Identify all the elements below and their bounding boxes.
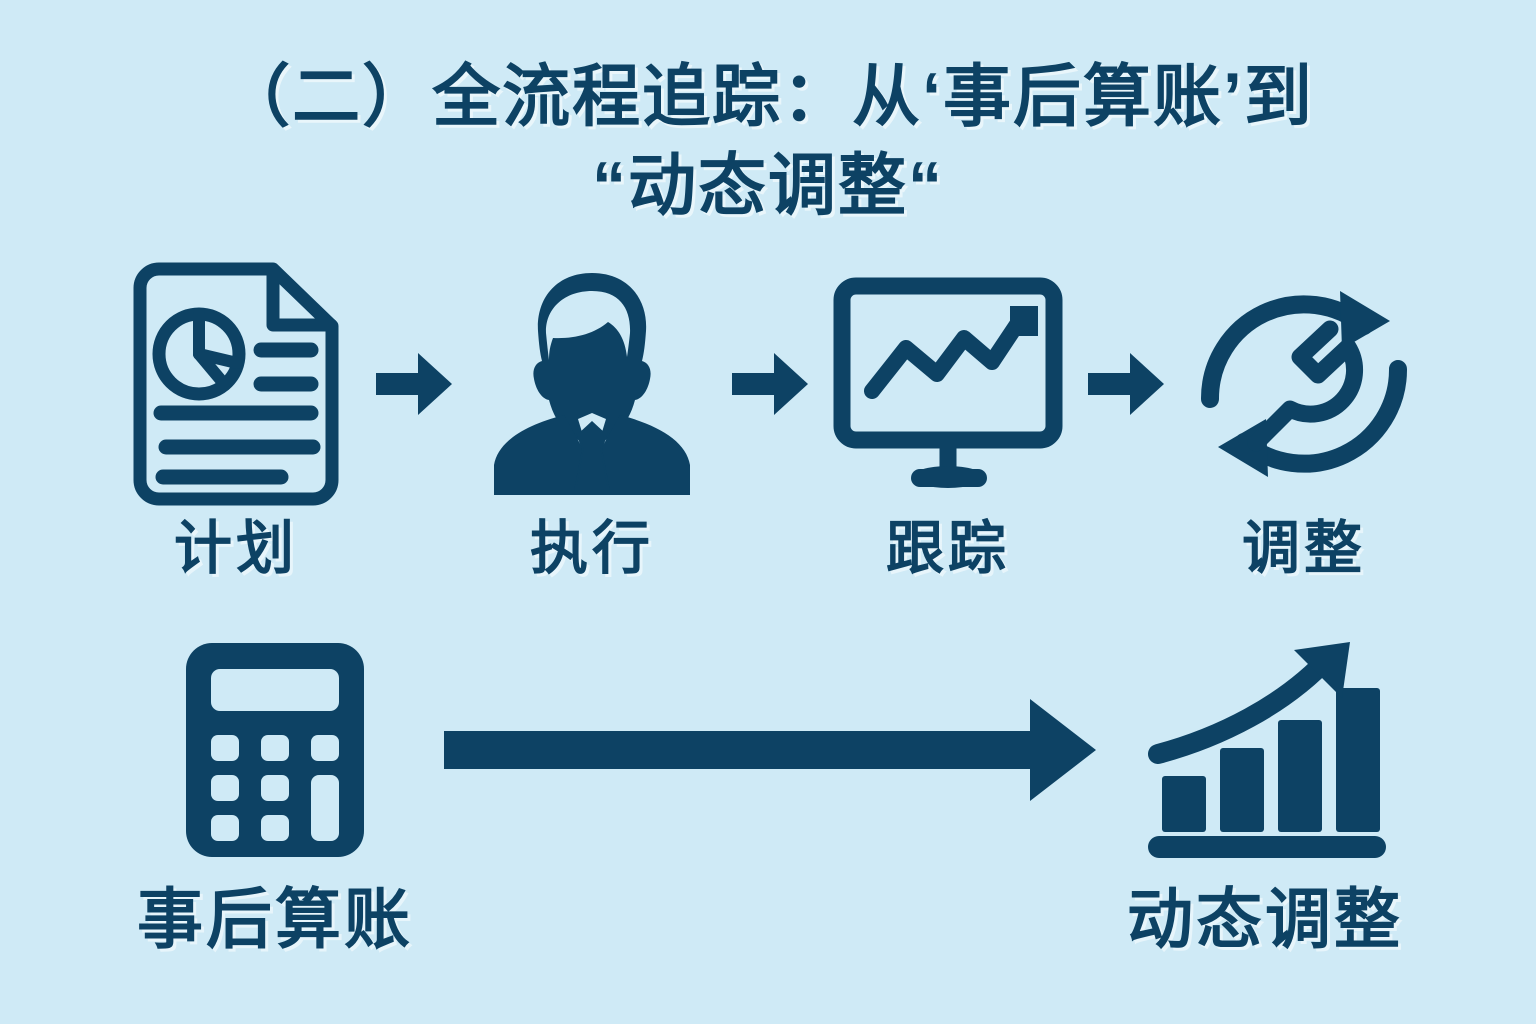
page-title: （二）全流程追踪：从‘事后算账’到 “动态调整“	[0, 56, 1536, 228]
flow-step-label: 执行	[530, 520, 654, 578]
long-arrow-right-icon	[430, 636, 1110, 864]
title-line-2: “动态调整“	[0, 145, 1536, 228]
flow-step-adjust[interactable]: 调整	[1188, 262, 1420, 578]
flow-step-track[interactable]: 跟踪	[832, 262, 1064, 578]
title-line-1: （二）全流程追踪：从‘事后算账’到	[0, 56, 1536, 139]
flow-step-plan[interactable]: 计划	[120, 262, 352, 578]
calculator-icon	[182, 636, 368, 864]
transform-to-label: 动态调整	[1127, 886, 1403, 952]
transformation-row: 事后算账 动态调整	[120, 636, 1420, 966]
businessman-icon	[486, 262, 698, 506]
transform-from[interactable]: 事后算账	[120, 636, 430, 952]
monitor-trendline-icon	[832, 262, 1064, 506]
flow-step-execute[interactable]: 执行	[476, 262, 708, 578]
growth-bars-arrow-icon	[1144, 636, 1386, 864]
arrow-right-icon	[366, 262, 462, 506]
refresh-wrench-icon	[1194, 262, 1414, 506]
arrow-right-icon	[722, 262, 818, 506]
flow-step-label: 计划	[174, 520, 298, 578]
process-flow-row: 计划 执行	[120, 262, 1420, 602]
document-chart-icon	[133, 262, 339, 506]
flow-step-label: 调整	[1242, 520, 1366, 578]
transform-from-label: 事后算账	[137, 886, 413, 952]
flow-step-label: 跟踪	[886, 520, 1010, 578]
arrow-right-icon	[1078, 262, 1174, 506]
transform-to[interactable]: 动态调整	[1110, 636, 1420, 952]
